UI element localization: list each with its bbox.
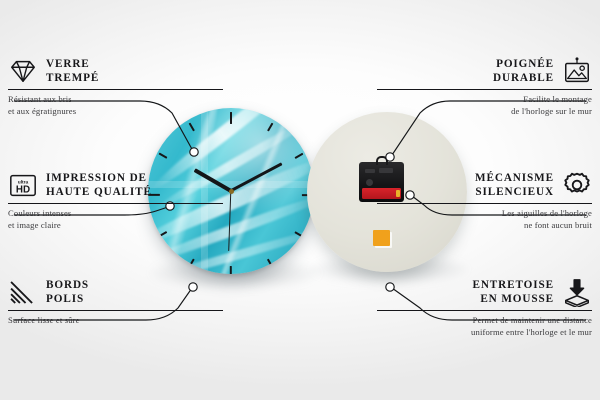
feature-header: BORDS POLIS [8,277,223,307]
feature-title: POIGNÉE DURABLE [493,57,554,86]
feature-impression-haute-qualite: ultra HD IMPRESSION DE HAUTE QUALITÉ Cou… [8,170,223,231]
divider [8,203,223,204]
feature-sub-2: uniforme entre l'horloge et le mur [377,326,592,338]
feature-sub-1: Les aiguilles de l'horloge [377,207,592,219]
feature-mecanisme-silencieux: MÉCANISME SILENCIEUX Les aiguilles de l'… [377,170,592,231]
diamond-icon [8,56,38,86]
feature-header: VERRE TREMPÉ [8,56,223,86]
divider [8,310,223,311]
feature-sub-1: Résistant aux bris [8,93,223,105]
foam-spacer-icon [562,277,592,307]
feature-header: MÉCANISME SILENCIEUX [377,170,592,200]
feature-header: ultra HD IMPRESSION DE HAUTE QUALITÉ [8,170,223,200]
foam-spacer [373,230,390,246]
divider [8,89,223,90]
hanging-frame-icon [562,56,592,86]
feature-title: IMPRESSION DE HAUTE QUALITÉ [46,171,152,200]
feature-title: ENTRETOISE EN MOUSSE [472,278,554,307]
infographic-stage: VERRE TREMPÉ Résistant aux bris et aux é… [0,0,600,400]
feature-header: POIGNÉE DURABLE [377,56,592,86]
hanging-loop [376,156,388,165]
feature-poignee-durable: POIGNÉE DURABLE Facilite le montage de l… [377,56,592,117]
feature-sub-2: et aux égratignures [8,105,223,117]
feature-title: BORDS POLIS [46,278,89,307]
feature-sub-1: Couleurs intenses [8,207,223,219]
divider [377,203,592,204]
feature-title: MÉCANISME SILENCIEUX [475,171,554,200]
feature-entretoise-en-mousse: ENTRETOISE EN MOUSSE Permet de maintenir… [377,277,592,338]
feature-sub-1: Facilite le montage [377,93,592,105]
divider [377,310,592,311]
clock-center-cap [229,189,234,194]
feature-sub-1: Permet de maintenir une distance [377,314,592,326]
feature-title: VERRE TREMPÉ [46,57,99,86]
gear-icon [562,170,592,200]
feature-sub-2: de l'horloge sur le mur [377,105,592,117]
feature-header: ENTRETOISE EN MOUSSE [377,277,592,307]
feature-bords-polis: BORDS POLIS Surface lisse et sûre [8,277,223,326]
feature-sub-2: et image claire [8,219,223,231]
svg-text:HD: HD [16,185,30,196]
ultra-hd-icon: ultra HD [8,170,38,200]
feature-sub-1: Surface lisse et sûre [8,314,223,326]
feature-sub-2: ne font aucun bruit [377,219,592,231]
polished-edge-icon [8,277,38,307]
divider [377,89,592,90]
feature-verre-trempe: VERRE TREMPÉ Résistant aux bris et aux é… [8,56,223,117]
